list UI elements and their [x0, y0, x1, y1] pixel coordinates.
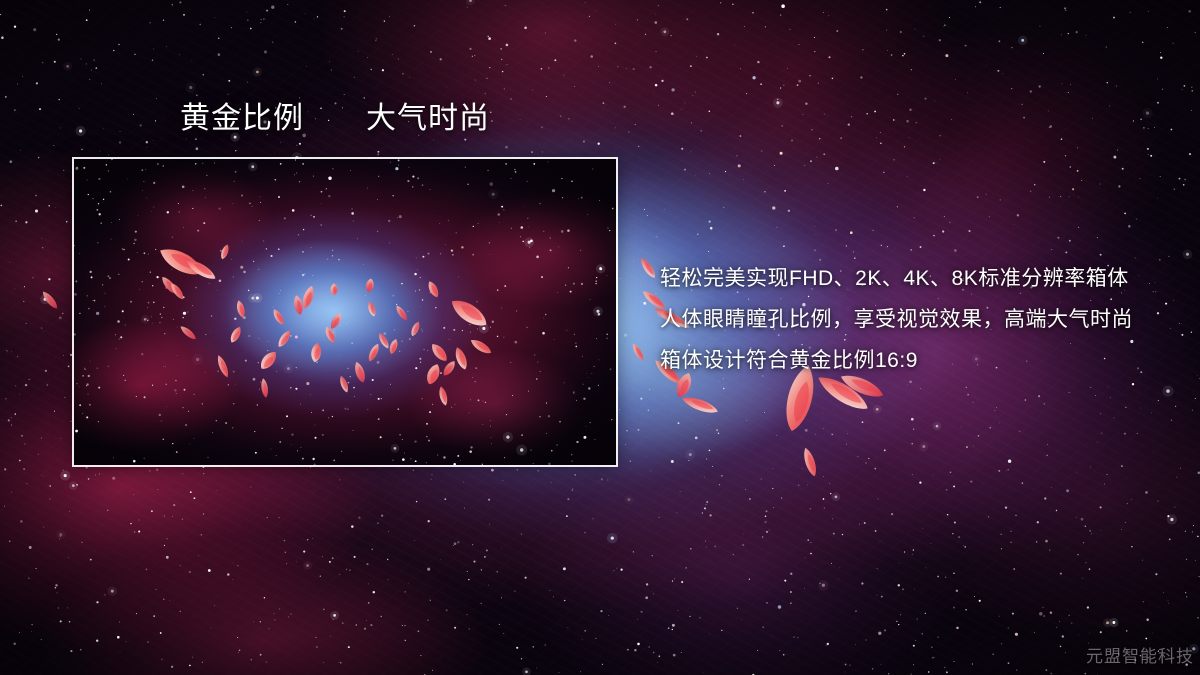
watermark-text: 元盟智能科技 — [1086, 642, 1194, 667]
body-line-3: 箱体设计符合黄金比例16:9 — [660, 340, 1180, 381]
body-line-2: 人体眼睛瞳孔比例，享受视觉效果，高端大气时尚 — [660, 299, 1180, 340]
body-line-1: 轻松完美实现FHD、2K、4K、8K标准分辨率箱体 — [660, 258, 1180, 299]
framed-photo-image — [74, 159, 616, 465]
slide-title: 黄金比例 大气时尚 — [180, 101, 490, 137]
framed-photo-vignette — [74, 159, 616, 465]
framed-photo — [72, 157, 618, 467]
presentation-slide: 黄金比例 大气时尚 轻松完美实现FHD、2K、4K、8K标准分辨率箱体 人体眼睛… — [0, 0, 1200, 675]
slide-body-copy: 轻松完美实现FHD、2K、4K、8K标准分辨率箱体 人体眼睛瞳孔比例，享受视觉效… — [660, 258, 1180, 381]
